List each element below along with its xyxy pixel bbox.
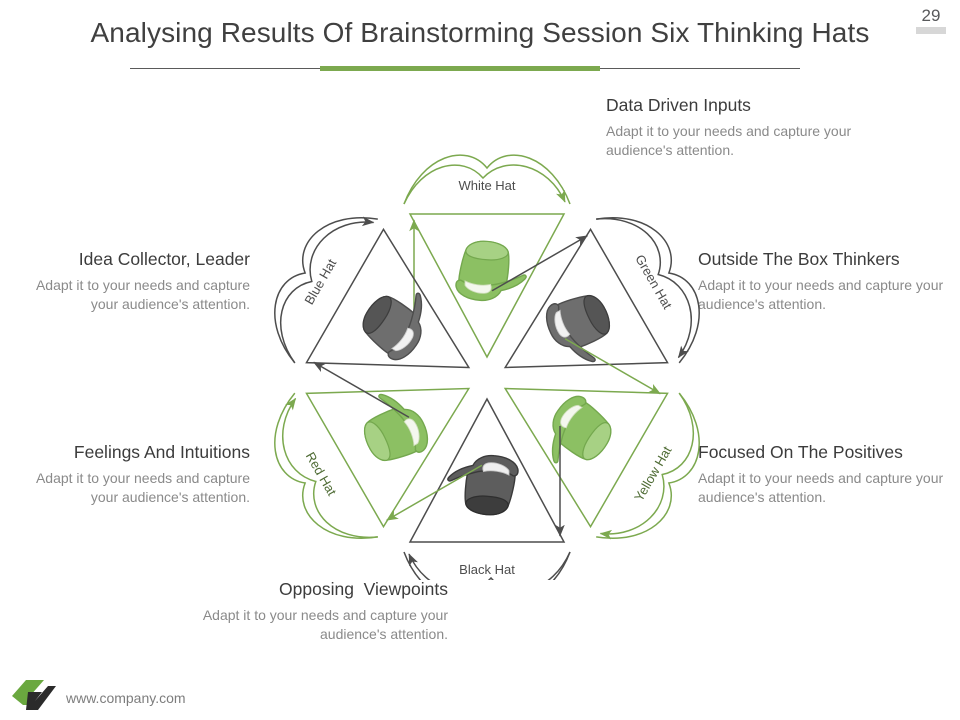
segment-white-hat[interactable]: White Hat — [404, 155, 570, 357]
segment-label-green-hat: Green Hat — [632, 252, 675, 312]
segment-green-hat[interactable]: Green Hat — [464, 195, 712, 440]
six-thinking-hats-diagram: White Hat Green Hat Yellow Hat Black Hat… — [262, 120, 712, 580]
segment-label-white-hat: White Hat — [458, 178, 515, 193]
hat-icon-yellow-hat — [535, 390, 621, 480]
page-title: Analysing Results Of Brainstorming Sessi… — [0, 17, 960, 49]
callout-heading: Opposing Viewpoints — [190, 578, 448, 600]
callout-heading: Focused On The Positives — [698, 441, 958, 463]
company-url: www.company.com — [66, 690, 186, 706]
segment-black-hat[interactable]: Black Hat — [404, 399, 570, 580]
callout-idea-collector-leader: Idea Collector, Leader Adapt it to your … — [35, 248, 250, 314]
segment-label-black-hat: Black Hat — [459, 562, 515, 577]
hat-icon-black-hat — [448, 456, 518, 515]
segment-red-hat[interactable]: Red Hat — [262, 317, 510, 562]
callout-heading: Data Driven Inputs — [606, 94, 906, 116]
callout-heading: Outside The Box Thinkers — [698, 248, 958, 270]
callout-outside-the-box-thinkers: Outside The Box Thinkers Adapt it to you… — [698, 248, 958, 314]
hat-icon-red-hat — [349, 383, 435, 473]
callout-focused-on-the-positives: Focused On The Positives Adapt it to you… — [698, 441, 958, 507]
callout-opposing-viewpoints: Opposing Viewpoints Adapt it to your nee… — [190, 578, 448, 644]
title-divider — [130, 66, 800, 71]
title-divider-accent — [320, 66, 600, 71]
callout-body: Adapt it to your needs and capture your … — [698, 276, 958, 314]
segment-label-blue-hat: Blue Hat — [301, 256, 339, 307]
callout-heading: Idea Collector, Leader — [35, 248, 250, 270]
callout-feelings-and-intuitions: Feelings And Intuitions Adapt it to your… — [35, 441, 250, 507]
hat-icon-blue-hat — [353, 276, 439, 366]
callout-body: Adapt it to your needs and capture your … — [190, 606, 448, 644]
callout-heading: Feelings And Intuitions — [35, 441, 250, 463]
callout-body: Adapt it to your needs and capture your … — [35, 276, 250, 314]
company-logo — [10, 678, 60, 712]
segment-label-red-hat: Red Hat — [303, 449, 340, 498]
hat-icon-green-hat — [539, 283, 625, 373]
callout-body: Adapt it to your needs and capture your … — [35, 469, 250, 507]
callout-body: Adapt it to your needs and capture your … — [698, 469, 958, 507]
hat-icon-white-hat — [456, 241, 526, 300]
